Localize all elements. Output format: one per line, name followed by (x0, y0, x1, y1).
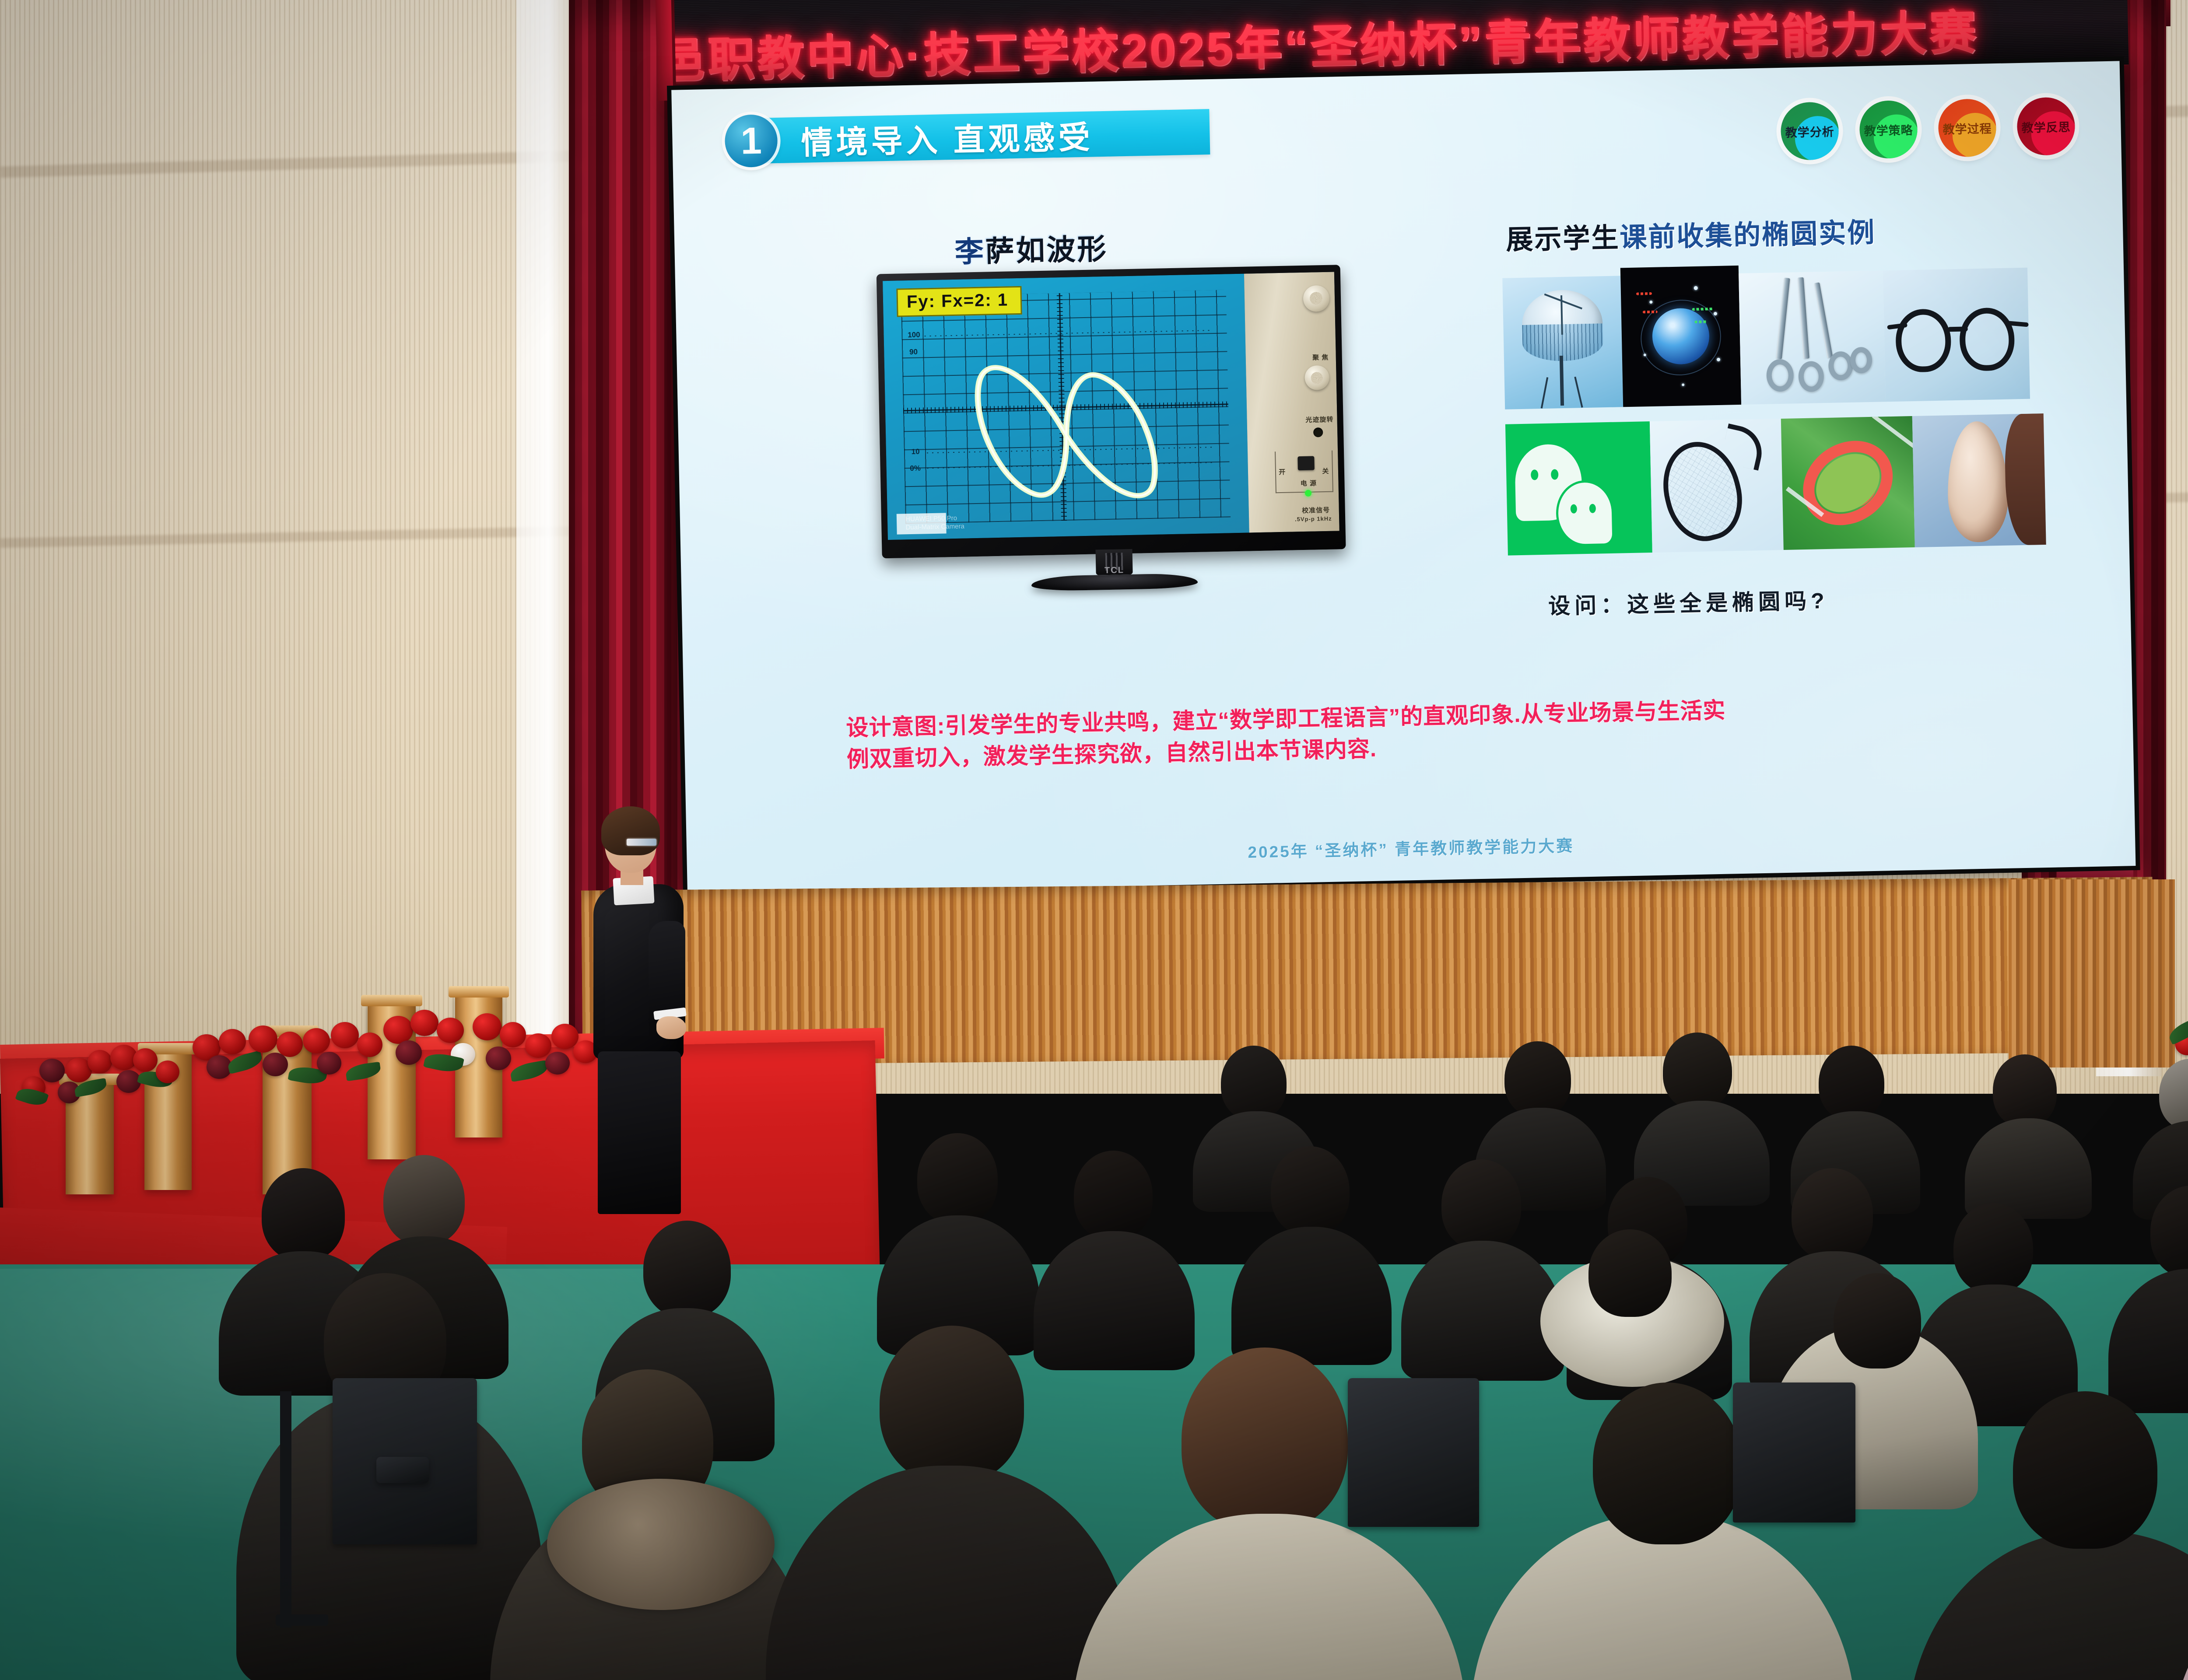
ellipse-heading-rest: 课前收集的椭圆实例 (1620, 218, 1876, 253)
path-line (1872, 416, 1915, 449)
tv-brand-label: TCL (1105, 565, 1124, 576)
wechat-bubble-small (1556, 480, 1615, 547)
power-off-label: 关 (1322, 466, 1329, 476)
nav-pill-label: 教学策略 (1864, 120, 1913, 138)
trace-rotate-screw[interactable] (1313, 427, 1323, 437)
scissor-finger-ring (1766, 359, 1794, 392)
racket-throat (1720, 423, 1767, 471)
star (1713, 312, 1717, 315)
photo-eyeglasses (1883, 268, 2030, 402)
frequency-ratio-label: Fy: Fx=2: 1 (896, 286, 1022, 317)
scissor-finger-ring (1798, 361, 1824, 392)
nav-pill-teaching-reflection[interactable]: 教学反思 (2016, 97, 2076, 156)
intensity-knob[interactable] (1303, 285, 1329, 311)
scissor-finger-ring (1828, 351, 1853, 381)
nav-pill-teaching-process[interactable]: 教学过程 (1938, 98, 1997, 157)
photo-row-2 (1505, 413, 2059, 555)
hud-marker (1636, 292, 1652, 295)
lissajous-heading-prefix: 李 (954, 235, 985, 268)
star (1649, 301, 1652, 304)
eyeglass-lens-left (1895, 308, 1951, 372)
star (1643, 353, 1646, 356)
slide-nav-pills: 教学分析 教学策略 教学过程 教学反思 (1780, 97, 2076, 160)
photo-satellite-dish (1502, 276, 1623, 409)
photo-running-track (1781, 416, 1915, 550)
lissajous-curve (901, 290, 1231, 524)
power-on-label: 开 (1279, 467, 1286, 476)
lissajous-heading-rest: 萨如波形 (985, 233, 1108, 268)
scissor-blade (1797, 277, 1809, 359)
power-label: 电 源 (1301, 478, 1317, 488)
section-title-bar: 情境导入 直观感受 (759, 109, 1210, 164)
cal-spec-label: .5Vp-p 1kHz (1295, 515, 1332, 523)
watermark-line-2: Dual-Matrix Camera (905, 522, 964, 532)
chair (1348, 1378, 1479, 1527)
hud-marker (1642, 310, 1657, 313)
trace-rotate-label: 光迹旋转 (1305, 414, 1333, 424)
slide-footer: 2025年 “圣纳杯” 青年教师教学能力大赛 (687, 821, 2135, 874)
presenter-glasses-icon (627, 839, 656, 846)
ellipse-examples-heading: 展示学生课前收集的椭圆实例 (1505, 210, 1876, 257)
star (1717, 358, 1720, 361)
lissajous-heading: 李萨如波形 (954, 226, 1108, 271)
design-intent-text: 设计意图:引发学生的专业共鸣，建立“数学即工程语言”的直观印象.从专业场景与生活… (846, 689, 1985, 776)
nav-pill-label: 教学过程 (1943, 119, 1992, 137)
egg-shape (1946, 421, 2009, 543)
nav-pill-teaching-strategy[interactable]: 教学策略 (1859, 100, 1918, 159)
hand-holding-egg (2004, 413, 2046, 546)
ellipse-photo-grid (1502, 259, 2060, 570)
chair-armrest (376, 1457, 429, 1483)
discussion-question: 设问：这些全是椭圆吗? (1548, 583, 1829, 620)
tv-monitor: 100 90 10 0% Fy: Fx=2: 1 HUAWEI P50 Pro … (877, 265, 1346, 558)
projection-screen: 1 情境导入 直观感受 教学分析 教学策略 教学过程 教学反思 (667, 56, 2140, 899)
photo-badminton-racket (1650, 419, 1784, 553)
presenter-hair (601, 806, 660, 855)
photo-earth-space (1620, 266, 1741, 407)
power-indicator-led (1305, 490, 1311, 497)
chair (1733, 1382, 1855, 1522)
nav-pill-teaching-analysis[interactable]: 教学分析 (1780, 101, 1839, 161)
tv-stand-base (1031, 573, 1198, 591)
focus-label: 聚 焦 (1312, 352, 1329, 362)
photo-egg (1912, 413, 2046, 547)
power-button[interactable] (1298, 456, 1315, 471)
star (1682, 384, 1684, 386)
slide-content: 1 情境导入 直观感受 教学分析 教学策略 教学过程 教学反思 (671, 61, 2135, 895)
chair-leg (280, 1391, 291, 1627)
watermark-line-1: HUAWEI P50 Pro (905, 514, 964, 523)
scissor-finger-ring (1850, 347, 1872, 374)
photo-surgical-scissors (1739, 270, 1886, 405)
camera-watermark: HUAWEI P50 Pro Dual-Matrix Camera (905, 514, 964, 532)
scissor-blade (1814, 282, 1833, 358)
audience-seating (0, 941, 2188, 1680)
photo-row-1 (1502, 259, 2056, 409)
scissor-blade (1776, 278, 1790, 359)
nav-pill-label: 教学反思 (2021, 117, 2071, 135)
oscilloscope-control-panel: 聚 焦 光迹旋转 开 关 电 源 校准信号 .5Vp-p 1kHz (1244, 272, 1339, 532)
focus-knob[interactable] (1304, 365, 1329, 390)
presentation-hall-scene: 邑职教中心·技工学校2025年“圣纳杯”青年教师教学能力大赛 1 情境导入 直观… (0, 0, 2188, 1680)
eyeglass-lens-right (1959, 307, 2015, 371)
tv-screen: 100 90 10 0% Fy: Fx=2: 1 HUAWEI P50 Pro … (883, 272, 1339, 540)
tv-bezel: 100 90 10 0% Fy: Fx=2: 1 HUAWEI P50 Pro … (877, 265, 1346, 558)
slide-section-header: 1 情境导入 直观感受 (724, 105, 1210, 168)
nav-pill-label: 教学分析 (1785, 122, 1834, 140)
cal-signal-label: 校准信号 (1302, 505, 1330, 515)
chair-foot (276, 1614, 328, 1626)
photo-wechat-logo (1505, 421, 1652, 556)
hud-marker (1695, 320, 1708, 323)
dish-leg (1541, 377, 1548, 408)
section-title-text: 情境导入 直观感受 (800, 111, 1094, 163)
eyeglass-bridge (1948, 326, 1968, 332)
star (1694, 286, 1698, 290)
ellipse-heading-prefix: 展示学生 (1506, 223, 1620, 255)
dish-leg (1574, 377, 1583, 408)
dish-mast (1560, 356, 1564, 406)
